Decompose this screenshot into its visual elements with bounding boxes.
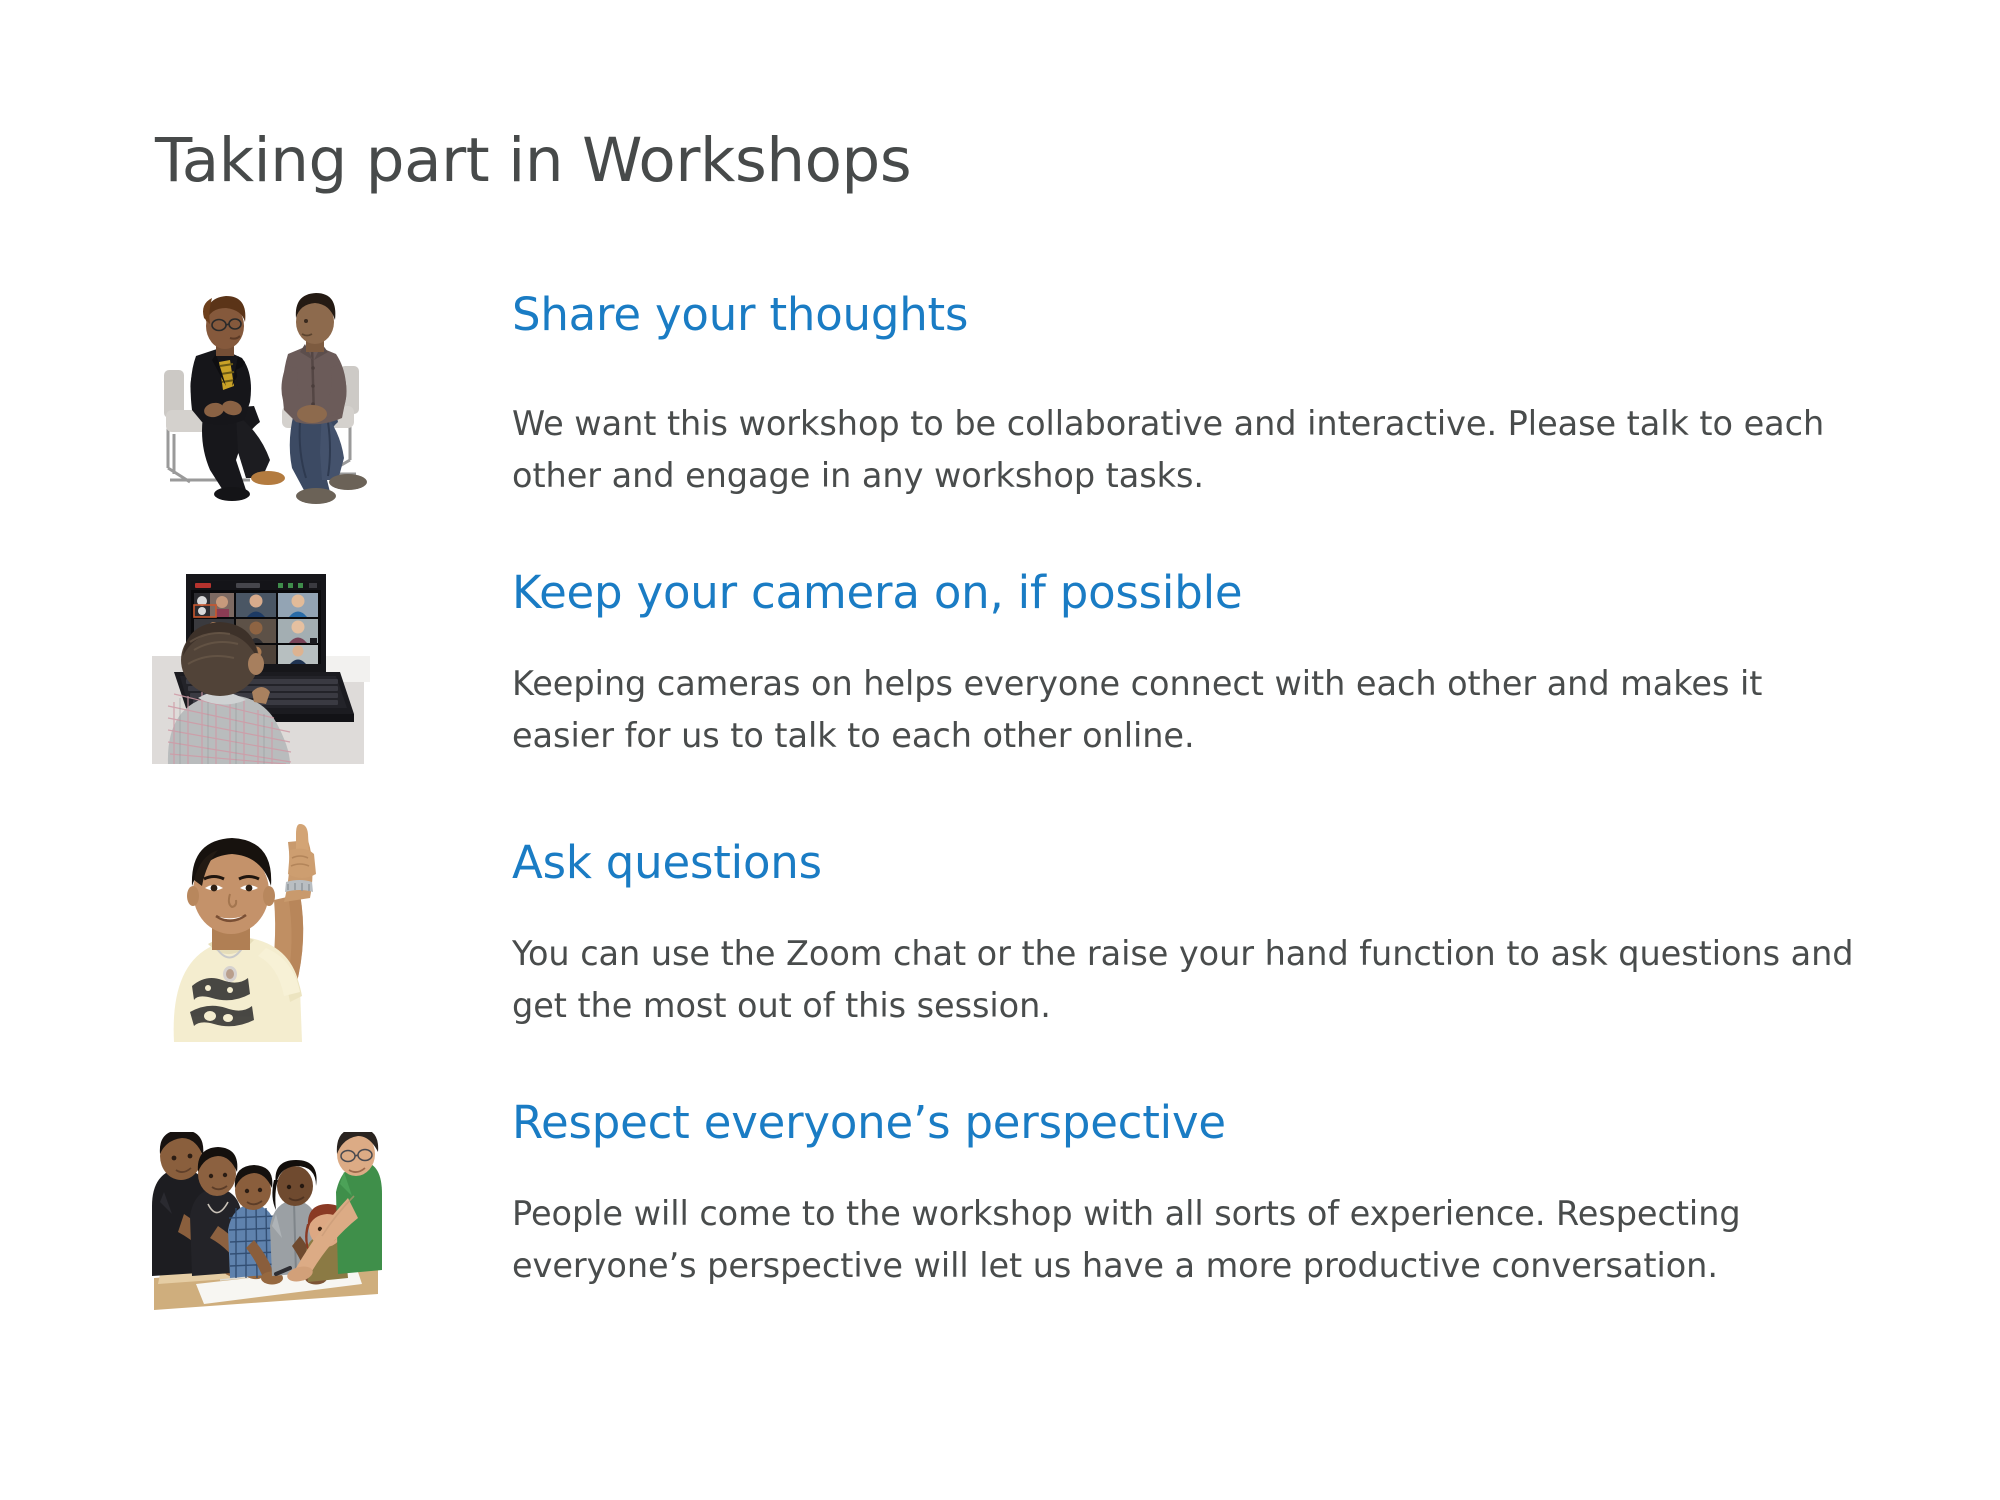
- two-people-seated-talking-photo: [150, 282, 382, 504]
- section-body: You can use the Zoom chat or the raise y…: [512, 928, 1872, 1032]
- section-heading: Ask questions: [512, 838, 1872, 888]
- person-at-laptop-video-call-photo: [150, 572, 374, 764]
- section-body: Keeping cameras on helps everyone connec…: [512, 658, 1872, 762]
- page-title: Taking part in Workshops: [155, 128, 911, 194]
- section-heading: Share your thoughts: [512, 290, 1872, 340]
- section-body: We want this workshop to be collaborativ…: [512, 398, 1872, 502]
- slide-canvas: Taking part in Workshops: [0, 0, 2000, 1500]
- section-heading: Keep your camera on, if possible: [512, 568, 1872, 618]
- group-collaborating-at-table-photo: [150, 1132, 382, 1310]
- section-body: People will come to the workshop with al…: [512, 1188, 1872, 1292]
- section-heading: Respect everyone’s perspective: [512, 1098, 1872, 1148]
- person-raising-hand-photo: [150, 820, 378, 1042]
